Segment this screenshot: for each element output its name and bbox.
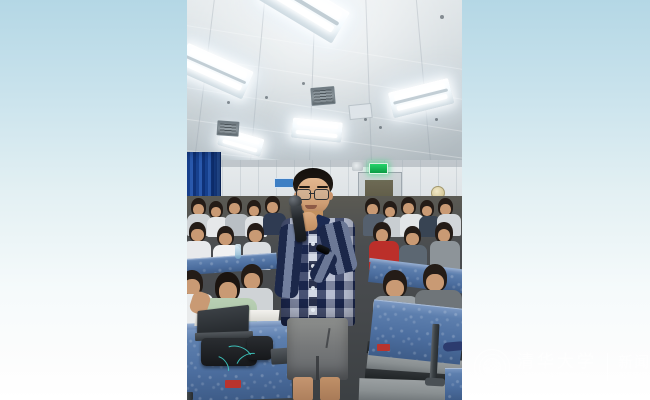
speaker-eyebrow bbox=[317, 186, 328, 188]
ceiling-air-vent bbox=[310, 86, 335, 106]
audience-head bbox=[435, 222, 453, 243]
audience-head bbox=[383, 270, 407, 298]
audience-head bbox=[241, 264, 263, 290]
ceiling-sensor-dot bbox=[302, 82, 305, 85]
emergency-exit-sign-icon bbox=[369, 163, 388, 174]
audience-head bbox=[401, 197, 416, 215]
ceiling-air-vent bbox=[217, 120, 240, 136]
shirt-button bbox=[311, 308, 315, 312]
ceiling-sensor-dot bbox=[265, 96, 268, 99]
water-bottle bbox=[235, 244, 241, 259]
image-canvas: 清华大学 Tsinghua University 新闻 NEWS bbox=[0, 0, 650, 400]
ceiling-sensor-dot bbox=[435, 118, 438, 121]
news-logotype: 新闻 NEWS bbox=[618, 354, 650, 381]
tsinghua-seal-icon bbox=[474, 349, 510, 385]
shorts-inseam bbox=[316, 356, 319, 380]
student-shoe bbox=[443, 341, 462, 352]
desk-label-sticker bbox=[225, 380, 241, 388]
tsinghua-news-watermark: 清华大学 Tsinghua University 新闻 NEWS bbox=[474, 344, 642, 390]
audience-head bbox=[423, 264, 447, 292]
light-tube bbox=[296, 121, 338, 129]
desk-foot bbox=[425, 377, 445, 386]
ceiling-sensor-dot bbox=[440, 15, 444, 19]
desk-label-sticker bbox=[377, 344, 390, 351]
speaker-leg bbox=[293, 377, 313, 400]
audience-head bbox=[209, 201, 223, 218]
shirt-button bbox=[311, 286, 315, 290]
standing-speaker bbox=[275, 168, 361, 400]
microphone-head bbox=[288, 194, 303, 207]
news-label-en: NEWS bbox=[618, 371, 650, 381]
university-logotype: 清华大学 Tsinghua University bbox=[517, 353, 597, 381]
lecture-desk bbox=[368, 299, 462, 364]
ceiling-sensor-dot bbox=[364, 118, 367, 121]
speaker-leg bbox=[320, 377, 340, 400]
university-name-en: Tsinghua University bbox=[517, 372, 597, 381]
speaker-eyebrow bbox=[299, 186, 310, 188]
light-tube bbox=[295, 130, 337, 138]
ceiling-region bbox=[187, 0, 462, 176]
audience-head bbox=[404, 226, 421, 246]
lecture-desk bbox=[445, 368, 462, 400]
watermark-divider bbox=[607, 353, 608, 381]
shirt-button bbox=[311, 242, 315, 246]
audience-head bbox=[217, 226, 234, 246]
audience-head bbox=[420, 200, 434, 217]
university-name-cn: 清华大学 bbox=[517, 353, 597, 372]
ceiling-sensor-dot bbox=[227, 101, 230, 104]
audience-head bbox=[189, 222, 206, 242]
audience-head bbox=[373, 222, 391, 243]
ceiling-sensor-dot bbox=[379, 126, 382, 129]
audience-head bbox=[227, 197, 242, 215]
audience-head bbox=[247, 223, 264, 243]
lecture-hall-photo bbox=[187, 0, 462, 400]
news-label-cn: 新闻 bbox=[618, 354, 650, 371]
ceiling-access-panel bbox=[348, 103, 372, 120]
desk-leg bbox=[187, 392, 193, 400]
eyeglasses-icon bbox=[296, 189, 331, 198]
audience-head bbox=[247, 200, 261, 217]
